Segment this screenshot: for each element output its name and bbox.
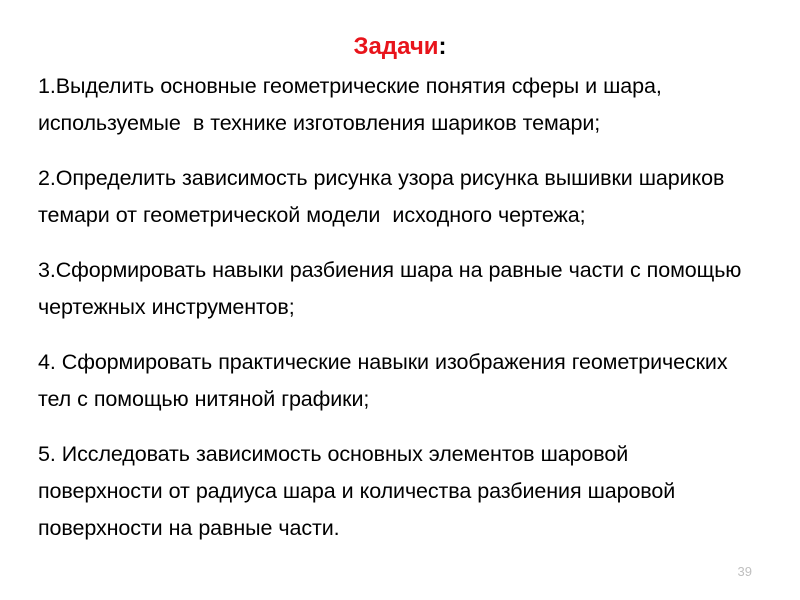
page-title-word: Задачи bbox=[353, 33, 438, 60]
task-list-item-4: 4. Сформировать практические навыки изоб… bbox=[38, 344, 754, 418]
slide-canvas: Задачи: 1.Выделить основные геометрическ… bbox=[0, 0, 800, 600]
task-list: 1.Выделить основные геометрические понят… bbox=[38, 68, 754, 547]
page-title: Задачи: bbox=[0, 33, 800, 61]
page-title-punctuation: : bbox=[439, 33, 447, 60]
task-list-item-3: 3.Сформировать навыки разбиения шара на … bbox=[38, 252, 754, 326]
task-list-item-5: 5. Исследовать зависимость основных элем… bbox=[38, 436, 754, 547]
page-number: 39 bbox=[738, 564, 752, 580]
task-list-item-1: 1.Выделить основные геометрические понят… bbox=[38, 68, 754, 142]
task-list-item-2: 2.Определить зависимость рисунка узора р… bbox=[38, 160, 754, 234]
